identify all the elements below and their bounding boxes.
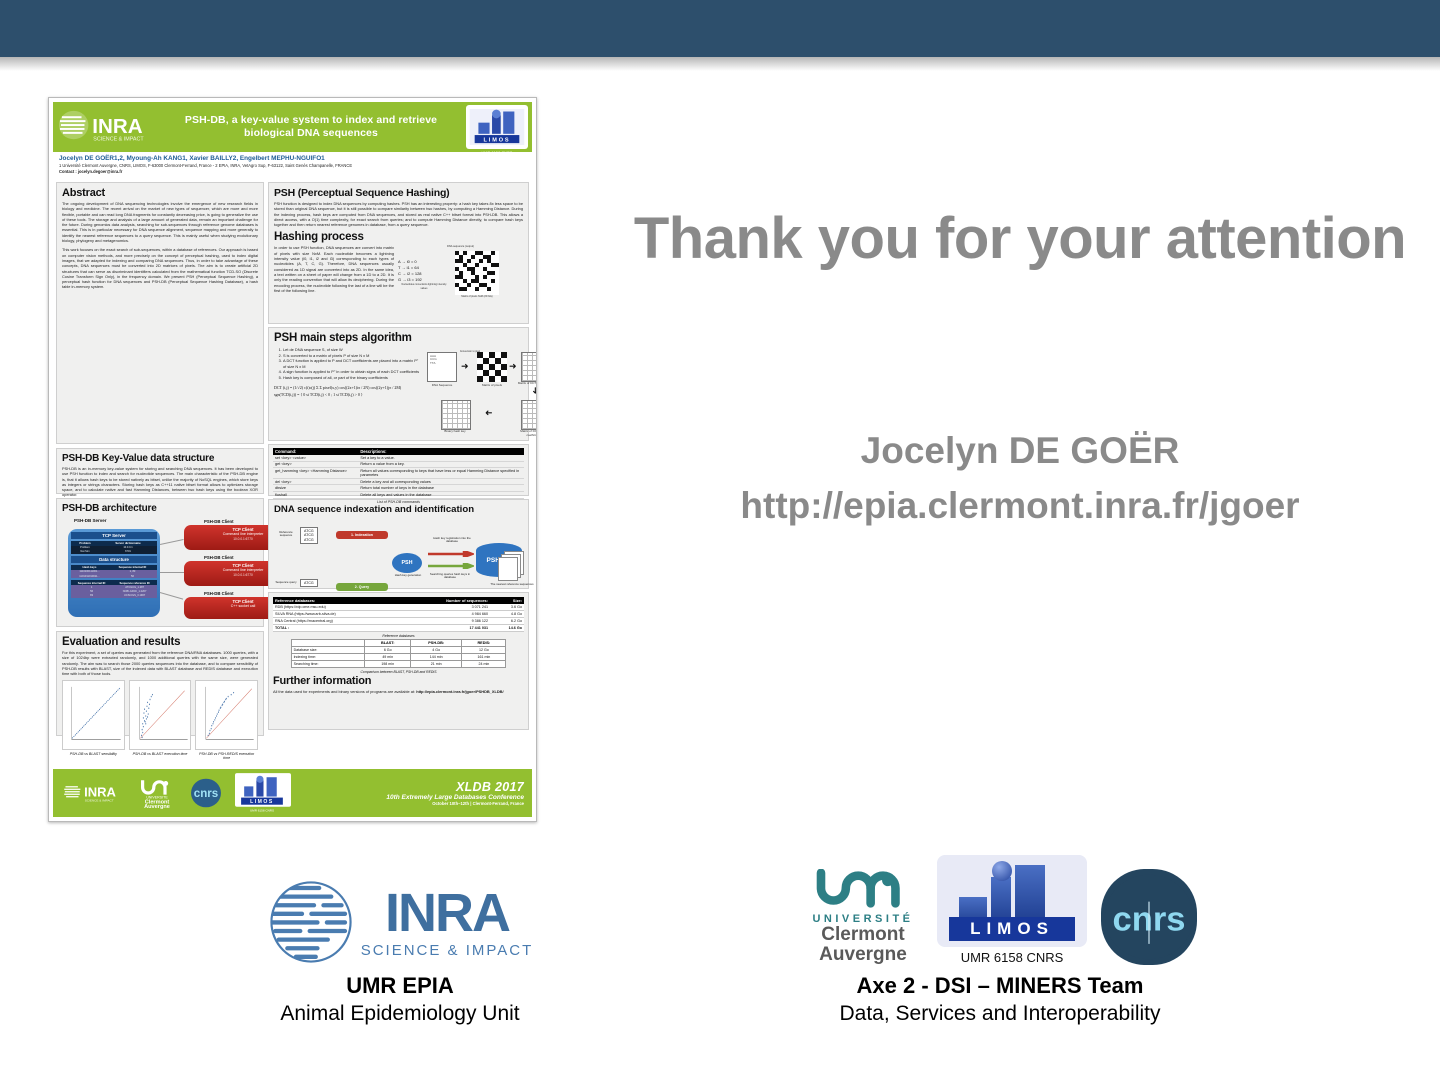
- chart-block-2: PSH-DB vs BLAST execution time: [129, 680, 192, 760]
- psh-sub-label: Hash key generation: [390, 574, 426, 577]
- query-seq-box: ATCG: [300, 579, 318, 587]
- further-text: All the data used for experiments and bi…: [273, 689, 524, 694]
- left-affiliation-title: UMR EPIA: [190, 973, 610, 999]
- hashing-fig-top: DNA sequence (output): [398, 245, 523, 249]
- uca-line2: Clermont: [821, 925, 904, 945]
- fig-label: Matrix of DCT coefficients: [517, 382, 537, 386]
- svg-text:SCIENCE & IMPACT: SCIENCE & IMPACT: [93, 137, 144, 143]
- result-label: The nearest reference sequences: [490, 583, 534, 586]
- table-row: get <key>Return a value from a key.: [273, 461, 524, 468]
- inra-logo-footer: INRA SCIENCE & IMPACT: [63, 780, 125, 806]
- affiliation-left: INRA SCIENCE & IMPACT UMR EPIA Animal Ep…: [190, 860, 610, 1026]
- uca-logo-footer: UNIVERSITE Clermont Auvergne: [137, 777, 177, 809]
- hashing-fig-left-cap: Nucleotides conventions lightning intens…: [398, 283, 450, 290]
- comparison-table: BLAST: PSH-DB: REDIS: Database size:6 Go…: [291, 639, 507, 668]
- td: Indexing time:: [291, 654, 365, 661]
- th: [291, 640, 365, 647]
- td: 24 min: [462, 661, 506, 668]
- speaker-url: http://epia.clermont.inra.fr/jgoer: [600, 485, 1440, 527]
- abstract-section: Abstract The ongoing development of DNA …: [56, 182, 264, 444]
- author-names: Jocelyn DE GOËR1,2, Myoung-Ah KANG1, Xav…: [59, 155, 526, 162]
- sym: i1: [407, 265, 410, 270]
- fig-label: Matrix of pixels: [475, 384, 509, 388]
- poster-image[interactable]: INRA SCIENCE & IMPACT PSH-DB, a key-valu…: [48, 97, 537, 822]
- connector: [160, 592, 183, 599]
- comparison-caption: Comparison between BLAST, PSH-DB and RED…: [273, 670, 524, 674]
- inra-disc-icon: [267, 879, 355, 965]
- th-command: Command:: [273, 448, 358, 455]
- dna-flow-section: DNA sequence indexation and identificati…: [268, 499, 529, 589]
- cmd: flushall: [273, 491, 358, 498]
- base: T: [398, 265, 400, 270]
- desc: Return a value from a key.: [358, 461, 524, 468]
- steps-list: Let de DNA sequence S, of size W S is co…: [283, 347, 421, 381]
- td: 9 386 122: [400, 618, 490, 625]
- uca-logo: UNIVERSITÉ Clermont Auvergne: [803, 869, 923, 965]
- svg-text:UMR 6158 CNRS: UMR 6158 CNRS: [250, 808, 274, 812]
- svg-text:LIMOS: LIMOS: [484, 137, 511, 143]
- td: 56: [108, 574, 157, 578]
- poster-authors: Jocelyn DE GOËR1,2, Myoung-Ah KANG1, Xav…: [53, 152, 532, 182]
- table-header-row: BLAST: PSH-DB: REDIS:: [291, 640, 506, 647]
- chart-block-1: PSH-DB vs BLAST sensibility: [62, 680, 125, 760]
- cnrs-mark-icon: cnrs: [1101, 869, 1197, 965]
- right-logo-row: UNIVERSITÉ Clermont Auvergne LIMOS UMR 6…: [700, 860, 1300, 965]
- cmd: get_hamming <key> <Hamming Distance>: [273, 468, 358, 479]
- thank-you-heading: Thank you for your attention: [620, 205, 1420, 272]
- right-affiliation-title: Axe 2 - DSI – MINERS Team: [700, 973, 1300, 999]
- td: 161 min: [462, 654, 506, 661]
- cnrs-logo-footer: cnrs: [189, 776, 223, 810]
- evaluation-heading: Evaluation and results: [62, 636, 258, 648]
- arrow-top-icon: [428, 551, 474, 557]
- table-row: RNA Central (https://rnacentral.org)9 38…: [273, 618, 524, 625]
- server-section-title: Data structure: [71, 556, 157, 563]
- step-item: Hash key is composed of all, or part of …: [283, 375, 421, 380]
- limos-sphere: [992, 861, 1012, 881]
- sym: i3: [407, 277, 410, 282]
- limos-logo-small: LIMOS UMR 6158 CNRS: [466, 105, 528, 149]
- abstract-p2: This work focuses on the exact search of…: [62, 247, 258, 289]
- poster-left-column: Abstract The ongoing development of DNA …: [56, 182, 264, 736]
- psh-node: PSH: [392, 553, 422, 573]
- svg-text:INRA: INRA: [92, 115, 142, 138]
- step-item: Let de DNA sequence S, of size W: [283, 347, 421, 352]
- poster-header: INRA SCIENCE & IMPACT PSH-DB, a key-valu…: [53, 102, 532, 152]
- th: BLAST:: [365, 640, 411, 647]
- evaluation-p1: For this experiment, a set of queries wa…: [62, 650, 258, 676]
- desc: Return all values corresponding to keys …: [358, 468, 524, 479]
- pixel-matrix-icon: [477, 352, 507, 382]
- kv-section: PSH-DB Key-Value data structure PSH-DB i…: [56, 448, 264, 494]
- hashing-heading: Hashing process: [274, 231, 523, 243]
- right-affiliation-subtitle: Data, Services and Interoperability: [700, 1002, 1300, 1026]
- arrow-bottom-label: Searching queries hash keys in database: [426, 573, 474, 580]
- hashing-fig-right-cap: Matrix of pixels NxM (2D bits): [453, 295, 501, 299]
- abstract-p1: The ongoing development of DNA sequencin…: [62, 201, 258, 243]
- chart-caption-2: PSH-DB vs BLAST execution time: [129, 752, 192, 756]
- arrow: →: [402, 271, 406, 276]
- client-label-1: PSH-DB Client: [204, 519, 234, 524]
- table-row: Database size:6 Go4 Go12 Go: [291, 647, 506, 654]
- abstract-heading: Abstract: [62, 187, 258, 199]
- sym: i0: [407, 259, 410, 264]
- base: A: [398, 259, 400, 264]
- seq-line: ATCG: [304, 538, 314, 542]
- table-row: get_hamming <key> <Hamming Distance>Retu…: [273, 468, 524, 479]
- top-bar-shadow: [0, 57, 1440, 71]
- td: 1101011010011...: [71, 574, 108, 578]
- sym: i2: [407, 271, 410, 276]
- binary-hash-key: [441, 400, 471, 430]
- inra-logo-row: INRA SCIENCE & IMPACT: [190, 860, 610, 965]
- td: 6 Go: [365, 647, 411, 654]
- cmd: get <key>: [273, 461, 358, 468]
- svg-text:INRA: INRA: [84, 785, 116, 800]
- conference-name: XLDB 2017: [386, 780, 524, 794]
- base: C: [398, 271, 401, 276]
- further-desc: All the data used for experiments and bi…: [273, 689, 415, 694]
- scatter-chart-2: [129, 680, 192, 750]
- eq: =: [412, 277, 414, 282]
- th-description: Descriptions:: [358, 448, 524, 455]
- eq: =: [411, 265, 413, 270]
- td: Database size:: [291, 647, 365, 654]
- server-table-3: Sequence internal IDSequence reference I…: [71, 580, 157, 598]
- desc: Delete all keys and values in the databa…: [358, 491, 524, 498]
- chart-block-3: PSH-DB vs PSH-REDIS execution time: [195, 680, 258, 760]
- td: UCSC/GS_3.1907: [112, 594, 157, 598]
- td: 4 Go: [411, 647, 462, 654]
- hashing-figure: DNA sequence (output) A → i0 = 0: [398, 245, 523, 298]
- steps-section: PSH main steps algorithm Let de DNA sequ…: [268, 327, 529, 441]
- table-header-row: Command: Descriptions:: [273, 448, 524, 455]
- val: 0: [414, 259, 416, 264]
- td: TOTAL :: [273, 625, 400, 632]
- td: RNA Central (https://rnacentral.org): [273, 618, 400, 625]
- limos-sublabel: UMR 6158 CNRS: [937, 950, 1087, 965]
- top-navy-bar: [0, 0, 1440, 57]
- inra-tagline: SCIENCE & IMPACT: [361, 942, 534, 959]
- server-table-1: ProblemServer dictionnaire Problem10.0.0…: [71, 541, 157, 555]
- dct-binary-matrix: [521, 400, 537, 430]
- server-table-2: Hash keysSequence internal ID 1110100111…: [71, 565, 157, 579]
- inra-wordmark: INRA: [361, 886, 534, 940]
- steps-figure: AAACCGTTA DNA Sequence ➜ Conversion to p…: [425, 346, 523, 383]
- chart-caption-1: PSH-DB vs BLAST sensibility: [62, 752, 125, 756]
- base: G: [398, 277, 401, 282]
- step-item: A sign function is applied to P'' in ord…: [283, 369, 421, 374]
- svg-text:Auvergne: Auvergne: [144, 804, 170, 809]
- commands-section: Command: Descriptions: set <key> <value>…: [268, 444, 529, 496]
- pixel-matrix-figure: [455, 251, 499, 295]
- architecture-heading: PSH-DB architecture: [62, 503, 258, 514]
- further-heading: Further information: [273, 675, 524, 687]
- td: 17 441 031: [400, 625, 490, 632]
- scatter-chart-1: [62, 680, 125, 750]
- limos-logo-footer: LIMOS UMR 6158 CNRS: [235, 773, 291, 813]
- fig-label: DNA Sequence: [425, 384, 459, 388]
- evaluation-section: Evaluation and results For this experime…: [56, 631, 264, 736]
- server-title: TCP Server: [71, 532, 157, 539]
- result-papers-icon: [498, 551, 524, 577]
- arrow-icon: ➜: [509, 362, 517, 371]
- td: 6701: [99, 550, 157, 554]
- arrow-top-label: Hash key registration into the database: [430, 537, 474, 544]
- svg-text:UNIVERSITE: UNIVERSITE: [146, 796, 168, 800]
- hashing-p1: In order to use PSH function, DNA sequen…: [274, 245, 394, 294]
- conference-date: October 10th–12th | Clermont-Ferrand, Fr…: [386, 801, 524, 806]
- cmd: dbsize: [273, 485, 358, 492]
- fig-label: Matrix of DCT binary coefficients: [515, 430, 537, 437]
- author-affiliations: 1 Université Clermont Auvergne, CNRS, LI…: [59, 163, 526, 168]
- table-row: Indexing time:49 min144 min161 min: [291, 654, 506, 661]
- connector: [160, 572, 184, 573]
- server-box: TCP Server ProblemServer dictionnaire Pr…: [68, 529, 160, 617]
- desc: Return total number of keys in the datab…: [358, 485, 524, 492]
- server-label: PSH-DB Server: [74, 518, 107, 523]
- poster-title: PSH-DB, a key-value system to index and …: [156, 114, 466, 140]
- psh-heading: PSH (Perceptual Sequence Hashing): [274, 187, 523, 199]
- psh-section: PSH (Perceptual Sequence Hashing) PSH fu…: [268, 182, 529, 324]
- td: 14.6 Go: [490, 625, 524, 632]
- arrow: →: [402, 259, 406, 264]
- arrow: →: [402, 277, 406, 282]
- td: Nat Sim: [71, 550, 99, 554]
- footer-logos: INRA SCIENCE & IMPACT UNIVERSITE Clermon…: [63, 773, 291, 813]
- td: 49 min: [365, 654, 411, 661]
- cnrs-logo: cnrs: [1101, 869, 1197, 965]
- poster-footer: INRA SCIENCE & IMPACT UNIVERSITE Clermon…: [53, 769, 532, 817]
- table-row: Searching time:198 min21 min24 min: [291, 661, 506, 668]
- step1-pill: 1. Indexation: [336, 531, 388, 539]
- dna-seq-square: AAACCGTTA: [427, 352, 457, 382]
- further-link: http://epia.clermont.inra.fr/jgoer/PSHDB…: [416, 689, 503, 694]
- td: 198 min: [365, 661, 411, 668]
- query-label: Sequence query: [274, 581, 298, 584]
- val: 64: [414, 265, 418, 270]
- td: 83: [71, 594, 112, 598]
- poster-content: INRA SCIENCE & IMPACT PSH-DB, a key-valu…: [53, 102, 532, 817]
- dna-flow-heading: DNA sequence indexation and identificati…: [274, 504, 523, 515]
- cmd: del <key>: [273, 478, 358, 485]
- step2-pill: 2. Query: [336, 583, 388, 591]
- results-tables-section: Reference databases: Number of sequences…: [268, 592, 529, 730]
- svg-text:LIMOS: LIMOS: [250, 799, 274, 805]
- th: REDIS:: [462, 640, 506, 647]
- th: PSH-DB:: [411, 640, 462, 647]
- poster-right-column: PSH (Perceptual Sequence Hashing) PSH fu…: [268, 182, 529, 730]
- affiliation-right: UNIVERSITÉ Clermont Auvergne LIMOS UMR 6…: [700, 860, 1300, 1026]
- poster-body: Abstract The ongoing development of DNA …: [53, 182, 532, 737]
- uca-line3: Auvergne: [819, 945, 907, 965]
- architecture-section: PSH-DB architecture PSH-DB Server TCP Se…: [56, 498, 264, 627]
- reference-databases-caption: Reference databases: [273, 634, 524, 638]
- dct-matrix: [521, 352, 537, 382]
- td: Searching time:: [291, 661, 365, 668]
- td: 21 min: [411, 661, 462, 668]
- evaluation-charts: PSH-DB vs BLAST sensibility: [62, 680, 258, 760]
- arrow-bottom-icon: [428, 563, 474, 569]
- steps-heading: PSH main steps algorithm: [274, 332, 523, 344]
- desc: Delete a key and all corresponding value…: [358, 478, 524, 485]
- arrow-icon: ➜: [530, 387, 537, 395]
- table-row: TOTAL :17 441 03114.6 Go: [273, 625, 524, 632]
- arrow: →: [402, 265, 406, 270]
- inra-logo-small: INRA SCIENCE & IMPACT: [58, 107, 156, 147]
- svg-text:cnrs: cnrs: [194, 788, 218, 800]
- kv-heading: PSH-DB Key-Value data structure: [62, 453, 258, 464]
- table-row: dbsizeReturn total number of keys in the…: [273, 485, 524, 492]
- formula-2: sgn(TCD(i,j)) = { 0 si TCD(i,j) < 0 ; 1 …: [274, 392, 523, 397]
- kv-p1: PSH-DB is an in-memory key-value system …: [62, 466, 258, 498]
- conference-block: XLDB 2017 10th Extremely Large Databases…: [386, 780, 524, 806]
- svg-text:SCIENCE & IMPACT: SCIENCE & IMPACT: [85, 798, 114, 802]
- td: 144 min: [411, 654, 462, 661]
- left-affiliation-subtitle: Animal Epidemiology Unit: [190, 1002, 610, 1026]
- inra-logo-large: INRA SCIENCE & IMPACT: [267, 879, 534, 965]
- td: 12 Go: [462, 647, 506, 654]
- client-label-2: PSH-DB Client: [204, 555, 234, 560]
- inra-mark: INRA SCIENCE & IMPACT: [267, 879, 534, 965]
- limos-card: LIMOS: [937, 855, 1087, 947]
- client-label-3: PSH-DB Client: [204, 591, 234, 596]
- speaker-name: Jocelyn DE GOËR: [620, 430, 1420, 472]
- limos-logo-large: LIMOS UMR 6158 CNRS: [937, 855, 1087, 965]
- inra-wordmark-block: INRA SCIENCE & IMPACT: [361, 886, 534, 959]
- chart-caption-3: PSH-DB vs PSH-REDIS execution time: [195, 752, 258, 760]
- val: 128: [415, 271, 422, 276]
- psh-p1: PSH function is designed to index DNA se…: [274, 201, 523, 227]
- commands-table: Command: Descriptions: set <key> <value>…: [273, 448, 524, 499]
- conference-subtitle: 10th Extremely Large Databases Conferenc…: [386, 794, 524, 801]
- reference-seq-box: ATCG ATCG ATCG: [300, 527, 318, 544]
- limos-wordmark: LIMOS: [949, 917, 1075, 941]
- arrow-icon: ➜: [461, 362, 469, 371]
- arrow-icon: ➜: [485, 408, 493, 417]
- eq: =: [411, 259, 413, 264]
- fig-label: Binary hash key: [437, 430, 473, 434]
- val: 192: [415, 277, 422, 282]
- nucleotide-map: A → i0 = 0 T → i1 =: [398, 259, 450, 290]
- dna-flow-diagram: Reference sequence ATCG ATCG ATCG 1. Ind…: [274, 517, 523, 612]
- td: 6.2 Go: [490, 618, 524, 625]
- author-contact: Contact : jocelyn.degoer@inra.fr: [59, 169, 526, 174]
- step-item: S is converted to a matrix of pixels P o…: [283, 353, 421, 358]
- table-row: flushallDelete all keys and values in th…: [273, 491, 524, 498]
- connector: [160, 539, 184, 545]
- eq: =: [411, 271, 413, 276]
- uca-mark-icon: [807, 869, 919, 911]
- scatter-chart-3: [195, 680, 258, 750]
- step-item: A DCT function is applied to P and DCT c…: [283, 358, 421, 368]
- table-row: del <key>Delete a key and all correspond…: [273, 478, 524, 485]
- reference-label: Reference sequence: [274, 531, 298, 538]
- architecture-diagram: PSH-DB Server TCP Server ProblemServer d…: [62, 516, 258, 624]
